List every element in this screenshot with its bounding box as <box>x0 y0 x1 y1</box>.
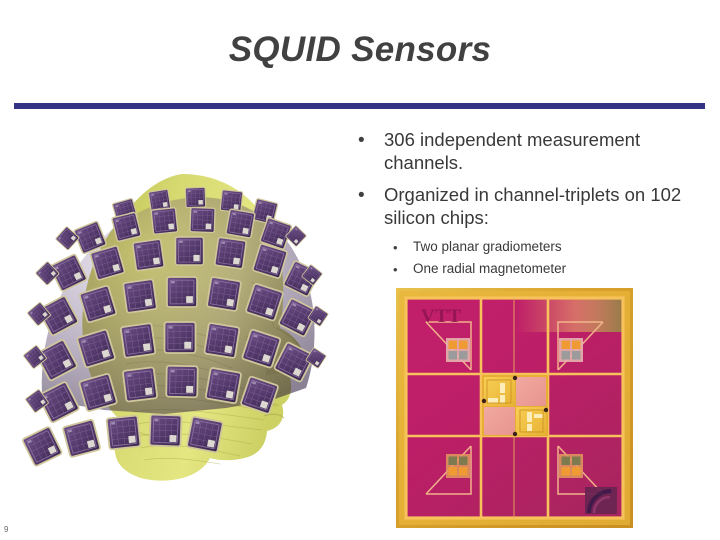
meg-helmet-head-image <box>14 132 344 504</box>
chip-corner-logo <box>585 487 617 514</box>
bullet-dot-icon: • <box>393 260 413 276</box>
slide-number: 9 <box>4 524 8 536</box>
list-item-text: 306 independent measurement channels. <box>384 128 706 174</box>
squid-chip-image: VTT <box>396 288 633 528</box>
vtt-logo-text: VTT <box>421 306 462 327</box>
page-title: SQUID Sensors <box>0 30 720 70</box>
bullet-dot-icon: • <box>358 183 384 205</box>
list-item: • Two planar gradiometers <box>358 238 706 256</box>
list-item: • 306 independent measurement channels. <box>358 128 706 174</box>
chip-squid-core <box>482 375 548 436</box>
list-item: • Organized in channel-triplets on 102 s… <box>358 183 706 229</box>
list-item-text: Organized in channel-triplets on 102 sil… <box>384 183 706 229</box>
list-item: • One radial magnetometer <box>358 260 706 278</box>
bullet-dot-icon: • <box>393 238 413 254</box>
bullet-list: • 306 independent measurement channels. … <box>358 128 706 282</box>
title-divider-rule <box>14 103 705 109</box>
list-item-text: One radial magnetometer <box>413 260 706 278</box>
bullet-dot-icon: • <box>358 128 384 150</box>
list-item-text: Two planar gradiometers <box>413 238 706 256</box>
squid-sensor-array <box>22 187 328 466</box>
